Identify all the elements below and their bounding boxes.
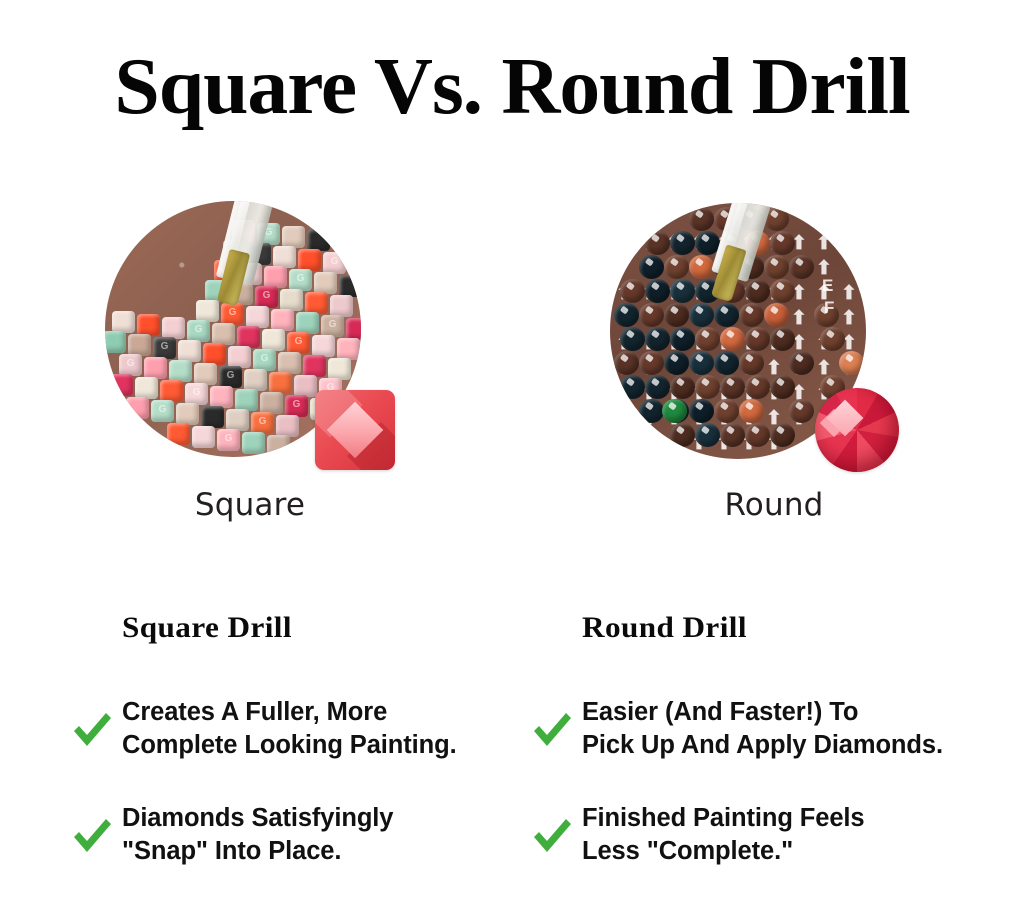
square-drill-cell xyxy=(296,312,319,334)
round-drill-cell xyxy=(645,375,670,399)
round-drill-cell xyxy=(620,327,645,351)
round-drill-cell xyxy=(639,351,664,375)
square-drill-cell xyxy=(228,346,251,368)
round-drill-cell xyxy=(689,303,714,327)
round-drill-cell xyxy=(645,279,670,303)
square-drill-cell xyxy=(314,272,337,294)
square-drill-cell xyxy=(176,403,199,425)
square-drill-cell xyxy=(192,426,215,448)
square-drill-cell xyxy=(246,306,269,328)
round-drill-cell xyxy=(770,327,795,351)
drill-code-label: G xyxy=(151,404,174,415)
square-drill-cell xyxy=(278,352,301,374)
drill-code-label: G xyxy=(253,353,276,364)
round-drill-cell xyxy=(789,255,814,279)
round-drill-cell xyxy=(695,327,720,351)
square-drill-cell xyxy=(267,435,290,457)
square-drill-cell xyxy=(112,311,135,333)
square-drill-cell xyxy=(162,317,185,339)
round-drill-cell xyxy=(764,255,789,279)
drill-code-label: G xyxy=(255,290,278,301)
benefit-text: Easier (And Faster!) To Pick Up And Appl… xyxy=(582,696,943,762)
list-item: Diamonds Satisfyingly "Snap" Into Place. xyxy=(70,798,500,872)
square-drill-cell xyxy=(110,374,133,396)
check-icon xyxy=(70,707,114,751)
list-item: Finished Painting Feels Less "Complete." xyxy=(530,798,1000,872)
benefit-text: Finished Painting Feels Less "Complete." xyxy=(582,802,865,868)
square-drill-cell xyxy=(276,415,299,437)
round-drill-cell xyxy=(670,231,695,255)
round-drill-cell xyxy=(739,303,764,327)
drill-code-label: G xyxy=(321,319,344,330)
round-drill-cell xyxy=(645,327,670,351)
square-drill-cell: G xyxy=(289,269,312,291)
square-drill-heading: Square Drill xyxy=(122,611,292,645)
round-drill-cell xyxy=(670,327,695,351)
round-drill-cell xyxy=(639,399,664,423)
drill-code-label: G xyxy=(289,273,312,284)
square-drill-cell xyxy=(280,289,303,311)
square-drill-cell xyxy=(328,358,351,380)
square-drill-cell: G xyxy=(185,383,208,405)
round-drill-cell xyxy=(739,351,764,375)
square-drill-cell xyxy=(346,318,361,340)
check-icon xyxy=(530,813,574,857)
round-drill-heading: Round Drill xyxy=(582,611,747,645)
square-drill-cell: G xyxy=(217,429,240,451)
drill-code-label: G xyxy=(287,336,310,347)
round-drill-cell xyxy=(745,375,770,399)
infographic-canvas: Square Vs. Round Drill GGGGGGGGGGGGGGGGG… xyxy=(0,0,1024,923)
square-drill-cell xyxy=(294,375,317,397)
round-drill-cell xyxy=(714,351,739,375)
round-drill-cell xyxy=(789,351,814,375)
round-drill-cell xyxy=(814,303,839,327)
square-drill-cell xyxy=(271,309,294,331)
round-drill-cell xyxy=(789,399,814,423)
list-item: Creates A Fuller, More Complete Looking … xyxy=(70,692,500,766)
square-gem-closeup xyxy=(315,390,395,470)
square-drill-cell xyxy=(167,423,190,445)
round-drill-cell xyxy=(720,327,745,351)
square-drill-cell: G xyxy=(323,252,346,274)
square-drill-cell: G xyxy=(255,286,278,308)
round-drill-cell-green xyxy=(662,399,687,423)
round-drill-benefits: Easier (And Faster!) To Pick Up And Appl… xyxy=(530,692,1000,904)
round-drill-cell xyxy=(770,375,795,399)
square-drill-cell: G xyxy=(251,412,274,434)
square-drill-cell: G xyxy=(187,320,210,342)
drill-code-label: G xyxy=(185,387,208,398)
round-drill-cell xyxy=(770,423,795,447)
round-drill-cell xyxy=(770,231,795,255)
round-drill-cell xyxy=(664,351,689,375)
round-drill-cell xyxy=(614,351,639,375)
square-drill-cell xyxy=(144,357,167,379)
square-drill-cell xyxy=(201,406,224,428)
square-drill-cell: G xyxy=(221,303,244,325)
square-drill-cell xyxy=(305,292,328,314)
round-drill-cell xyxy=(839,351,864,375)
square-drill-cell: G xyxy=(219,366,242,388)
check-icon xyxy=(70,813,114,857)
round-gem-closeup xyxy=(815,388,899,472)
round-drill-cell xyxy=(745,279,770,303)
square-drill-cell xyxy=(135,377,158,399)
round-drill-cell xyxy=(695,375,720,399)
drill-code-label: G xyxy=(217,433,240,444)
page-title: Square Vs. Round Drill xyxy=(0,44,1024,130)
square-drill-cell xyxy=(212,323,235,345)
round-drill-cell xyxy=(764,303,789,327)
square-drill-cell: G xyxy=(287,332,310,354)
round-drill-cell xyxy=(714,399,739,423)
round-drill-cell xyxy=(739,399,764,423)
round-drill-cell xyxy=(670,375,695,399)
drill-code-label: G xyxy=(219,370,242,381)
round-drill-cell xyxy=(639,255,664,279)
round-drill-cell xyxy=(689,207,714,231)
square-drill-cell xyxy=(105,331,126,353)
square-drill-cell xyxy=(178,340,201,362)
round-drill-cell xyxy=(664,255,689,279)
drill-code-label: G xyxy=(251,416,274,427)
square-drill-cell xyxy=(203,343,226,365)
drill-code-label: G xyxy=(119,358,142,369)
square-drill-cell xyxy=(303,355,326,377)
square-drill-cell: G xyxy=(285,395,308,417)
round-drill-cell xyxy=(720,375,745,399)
square-drill-cell xyxy=(237,326,260,348)
square-drill-cell xyxy=(244,369,267,391)
check-icon xyxy=(530,707,574,751)
round-drill-cell xyxy=(689,399,714,423)
square-drill-cell xyxy=(330,295,353,317)
square-drill-cell xyxy=(273,246,296,268)
round-drill-cell xyxy=(689,351,714,375)
round-drill-cell xyxy=(714,303,739,327)
round-drill-cell xyxy=(745,423,770,447)
round-drill-cell xyxy=(770,279,795,303)
square-drill-cell xyxy=(128,334,151,356)
square-drill-cell xyxy=(160,380,183,402)
drill-code-label: G xyxy=(187,324,210,335)
square-drill-cell xyxy=(210,386,233,408)
square-drill-cell xyxy=(235,389,258,411)
round-drill-cell xyxy=(670,279,695,303)
square-photo-caption: Square xyxy=(0,487,500,523)
square-drill-cell xyxy=(126,397,149,419)
square-drill-cell xyxy=(337,338,360,360)
drill-code-label: G xyxy=(153,341,176,352)
round-drill-cell xyxy=(620,375,645,399)
square-drill-benefits: Creates A Fuller, More Complete Looking … xyxy=(70,692,500,904)
square-drill-cell xyxy=(226,409,249,431)
drill-code-label: G xyxy=(323,256,346,267)
square-drill-cell: G xyxy=(153,337,176,359)
square-drill-cell xyxy=(298,249,321,271)
square-drill-cell: G xyxy=(119,354,142,376)
square-drill-cell: G xyxy=(321,315,344,337)
square-drill-cell xyxy=(242,432,265,454)
square-drill-cell xyxy=(264,266,287,288)
round-drill-cell xyxy=(689,255,714,279)
round-drill-cell xyxy=(670,423,695,447)
square-drill-cell xyxy=(196,300,219,322)
round-drill-cell xyxy=(639,303,664,327)
round-drill-cell xyxy=(645,231,670,255)
square-drill-cell: G xyxy=(253,349,276,371)
square-drill-cell: G xyxy=(151,400,174,422)
square-drill-cell xyxy=(262,329,285,351)
round-drill-cell xyxy=(820,327,845,351)
square-drill-cell xyxy=(282,226,305,248)
round-drill-cell xyxy=(720,423,745,447)
square-drill-cell xyxy=(260,392,283,414)
benefit-text: Creates A Fuller, More Complete Looking … xyxy=(122,696,457,762)
round-drill-cell xyxy=(620,279,645,303)
round-drill-cell xyxy=(695,423,720,447)
round-drill-cell xyxy=(664,303,689,327)
drill-code-label: G xyxy=(285,399,308,410)
drill-code-label: G xyxy=(221,307,244,318)
list-item: Easier (And Faster!) To Pick Up And Appl… xyxy=(530,692,1000,766)
square-drill-cell xyxy=(339,275,361,297)
round-drill-cell xyxy=(745,327,770,351)
square-drill-cell xyxy=(307,229,330,251)
square-drill-cell xyxy=(269,372,292,394)
square-drill-cell xyxy=(169,360,192,382)
round-photo-caption: Round xyxy=(524,487,1024,523)
square-drill-cell xyxy=(137,314,160,336)
square-drill-cell xyxy=(194,363,217,385)
square-drill-cell xyxy=(312,335,335,357)
benefit-text: Diamonds Satisfyingly "Snap" Into Place. xyxy=(122,802,393,868)
round-drill-cell xyxy=(614,303,639,327)
